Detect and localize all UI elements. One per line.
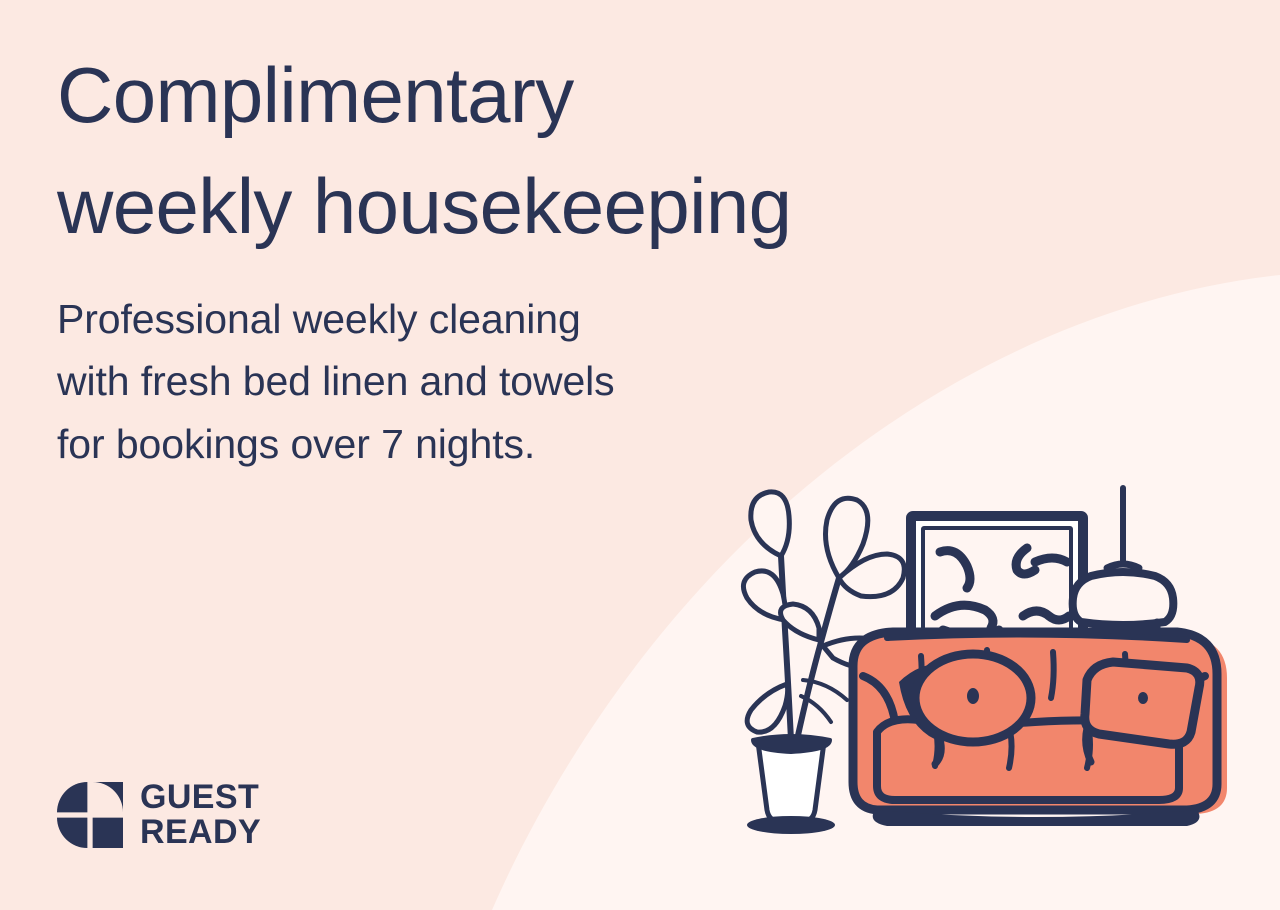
logo-quadrant-top-right [93, 782, 123, 812]
wordmark-line-ready: READY [140, 815, 261, 850]
guestready-logo[interactable]: GUEST READY [57, 780, 261, 851]
coral-sofa-icon [853, 632, 1227, 826]
wordmark-line-guest: GUEST [140, 780, 261, 815]
promo-banner: Complimentary weekly housekeeping Profes… [0, 0, 1280, 910]
guestready-wordmark: GUEST READY [140, 780, 261, 851]
logo-quadrant-bottom-left [57, 818, 87, 848]
copy-block: Complimentary weekly housekeeping Profes… [57, 40, 1057, 476]
living-room-illustration [735, 470, 1265, 870]
guestready-logo-mark-icon [57, 782, 123, 848]
page-subtitle: Professional weekly cleaning with fresh … [57, 262, 1057, 476]
logo-quadrant-top-left [57, 782, 87, 812]
logo-quadrant-bottom-right [93, 818, 123, 848]
page-title: Complimentary weekly housekeeping [57, 40, 1057, 262]
